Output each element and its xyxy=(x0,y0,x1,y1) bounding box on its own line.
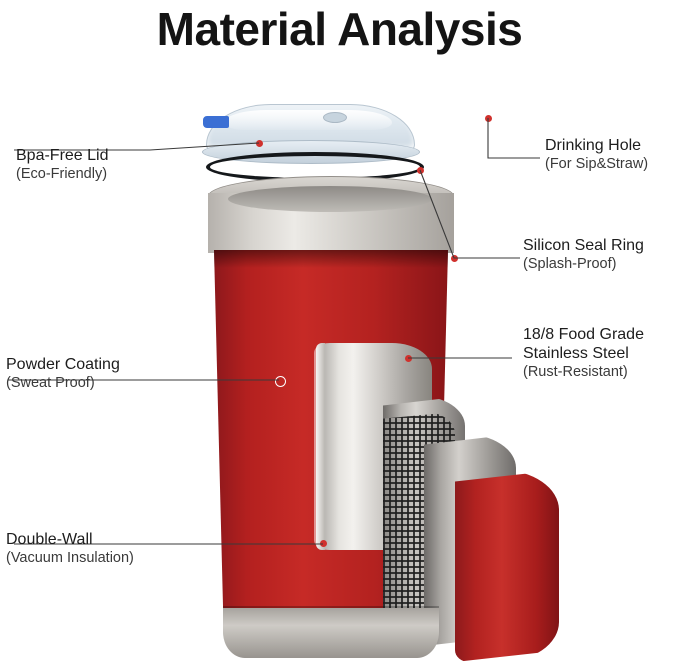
callout-drinking-hole: Drinking Hole (For Sip&Straw) xyxy=(545,136,648,174)
marker-dot-stainless-steel xyxy=(405,355,412,362)
drinking-hole xyxy=(323,112,347,123)
marker-dot-powder-coating xyxy=(275,376,286,387)
callout-bpa-free-lid: Bpa-Free Lid (Eco-Friendly) xyxy=(16,146,109,184)
callout-powder-coating-sub: (Sweat Proof) xyxy=(6,374,120,393)
outer-red-sheet-layer xyxy=(455,470,559,662)
callout-bpa-free-lid-sub: (Eco-Friendly) xyxy=(16,165,109,184)
marker-dot-seal-ring xyxy=(417,167,424,174)
callout-double-wall-title: Double-Wall xyxy=(6,530,134,549)
callout-stainless-steel: 18/8 Food Grade Stainless Steel (Rust-Re… xyxy=(523,325,644,382)
callout-stainless-steel-title: 18/8 Food Grade xyxy=(523,325,644,344)
callout-powder-coating: Powder Coating (Sweat Proof) xyxy=(6,355,120,393)
callout-bpa-free-lid-title: Bpa-Free Lid xyxy=(16,146,109,165)
lid-highlight xyxy=(224,110,392,130)
callout-stainless-steel-sub: (Rust-Resistant) xyxy=(523,363,644,382)
callout-double-wall-sub: (Vacuum Insulation) xyxy=(6,549,134,568)
tumbler-mouth-inner xyxy=(228,186,432,212)
marker-dot-double-wall xyxy=(320,540,327,547)
marker-dot-bpa-free-lid xyxy=(256,140,263,147)
marker-dot-drinking-hole xyxy=(485,115,492,122)
tumbler-base xyxy=(223,608,439,658)
body-inner-shadow xyxy=(214,250,448,268)
callout-drinking-hole-title: Drinking Hole xyxy=(545,136,648,155)
callout-drinking-hole-sub: (For Sip&Straw) xyxy=(545,155,648,174)
callout-silicon-seal-ring-sub: (Splash-Proof) xyxy=(523,255,644,274)
marker-dot-silicon-body xyxy=(451,255,458,262)
callout-silicon-seal-ring-title: Silicon Seal Ring xyxy=(523,236,644,255)
callout-silicon-seal-ring: Silicon Seal Ring (Splash-Proof) xyxy=(523,236,644,274)
callout-powder-coating-title: Powder Coating xyxy=(6,355,120,374)
callout-stainless-steel-title2: Stainless Steel xyxy=(523,344,644,363)
callout-double-wall: Double-Wall (Vacuum Insulation) xyxy=(6,530,134,568)
inner-steel-wall-edge xyxy=(316,343,325,550)
lid-slider-tab xyxy=(203,116,229,128)
